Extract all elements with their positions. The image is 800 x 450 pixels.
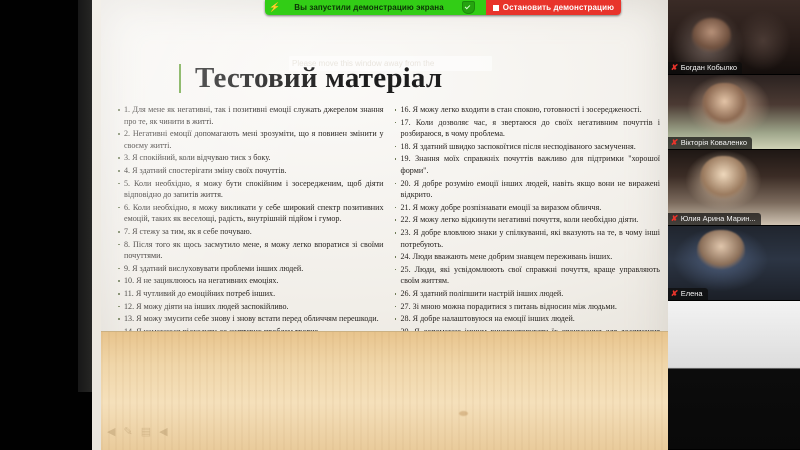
- right-column: 16. Я можу легко входити в стан спокою, …: [394, 104, 661, 362]
- participant-name: Елена: [681, 289, 703, 299]
- statement-item: 17. Коли дозволяє час, я звертаюся до св…: [394, 117, 661, 140]
- next-slide-icon[interactable]: ◀: [159, 427, 167, 438]
- microphone-muted-icon: ✘: [670, 290, 678, 298]
- statement-item: 18. Я здатний швидко заспокоїтися після …: [394, 141, 661, 153]
- page-title: Тестовий матеріал: [195, 62, 442, 95]
- participant-name-badge: ✘ Вікторія Коваленко: [668, 137, 752, 149]
- statement-item: 2. Негативні емоції допомагають мені зро…: [117, 128, 384, 151]
- microphone-muted-icon: ✘: [670, 139, 678, 147]
- participant-name-badge: ✘ Богдан Кобылко: [668, 62, 742, 74]
- share-status-label: Вы запустили демонстрацию экрана: [284, 3, 458, 12]
- participant-name: Богдан Кобылко: [681, 63, 737, 73]
- screen-share-stage: Please move this window away from the Те…: [0, 0, 800, 450]
- video-tile[interactable]: ✘ Вікторія Коваленко: [668, 75, 800, 150]
- left-column: 1. Для мене як негативні, так і позитивн…: [117, 104, 384, 362]
- statement-item: 5. Коли необхідно, я можу бути спокійним…: [117, 178, 384, 201]
- video-tile[interactable]: ✘ Елена: [668, 226, 800, 301]
- desk-wood-knot: [459, 411, 468, 416]
- desk-surface: ◀ ✎ ▤ ◀: [101, 331, 668, 450]
- statement-item: 6. Коли необхідно, я можу викликати у се…: [117, 202, 384, 225]
- statement-item: 13. Я можу змусити себе знову і знову вс…: [117, 313, 384, 325]
- participant-name-badge: ✘ Юлия Арина Марин...: [668, 213, 761, 225]
- statement-item: 26. Я здатний поліпшити настрій інших лю…: [394, 288, 661, 300]
- statement-item: 8. Після того як щось засмутило мене, я …: [117, 239, 384, 262]
- left-black-rail: [0, 0, 92, 450]
- statement-item: 27. Зі мною можна порадитися з питань ві…: [394, 301, 661, 313]
- title-accent-bar: [179, 64, 181, 93]
- statement-list-left: 1. Для мене як негативні, так і позитивн…: [117, 104, 384, 350]
- wall-edge: [78, 0, 92, 392]
- statement-item: 25. Люди, які усвідомлюють свої справжні…: [394, 264, 661, 287]
- stop-share-label: Остановить демонстрацию: [503, 3, 614, 12]
- microphone-muted-icon: ✘: [670, 64, 678, 72]
- statement-item: 16. Я можу легко входити в стан спокою, …: [394, 104, 661, 116]
- previous-slide-icon[interactable]: ◀: [107, 427, 115, 438]
- participant-name: Вікторія Коваленко: [681, 138, 747, 148]
- statement-item: 24. Люди вважають мене добрим знавцем пе…: [394, 251, 661, 263]
- participant-name-badge: ✘ Елена: [668, 288, 708, 300]
- video-tile[interactable]: ✘ Юлия Арина Марин...: [668, 150, 800, 225]
- participant-name: Юлия Арина Марин...: [681, 214, 756, 224]
- statement-item: 20. Я добре розумію емоції інших людей, …: [394, 178, 661, 201]
- statement-item: 9. Я здатний вислуховувати проблеми інши…: [117, 263, 384, 275]
- statement-item: 23. Я добре вловлюю знаки у спілкуванні,…: [394, 227, 661, 250]
- statement-item: 21. Я можу добре розпізнавати емоції за …: [394, 202, 661, 214]
- microphone-muted-icon: ✘: [670, 215, 678, 223]
- screen-share-banner: ⚡ Вы запустили демонстрацию экрана Остан…: [265, 0, 621, 15]
- statement-columns: 1. Для мене як негативні, так і позитивн…: [117, 104, 660, 362]
- projected-screen-area: Please move this window away from the Те…: [92, 0, 668, 450]
- statement-item: 19. Знання моїх справжніх почуттів важли…: [394, 153, 661, 176]
- statement-item: 4. Я здатний спостерігати зміну своїх по…: [117, 165, 384, 177]
- video-feed: [668, 301, 800, 449]
- share-status-pill: ⚡ Вы запустили демонстрацию экрана: [265, 0, 486, 15]
- shield-icon[interactable]: [462, 1, 475, 14]
- statement-item: 22. Я можу легко відкинути негативні поч…: [394, 214, 661, 226]
- slide-menu-icon[interactable]: ▤: [141, 427, 151, 438]
- video-tile[interactable]: ✘ Богдан Кобылко: [668, 0, 800, 75]
- lightning-icon: ⚡: [268, 3, 280, 12]
- presentation-toolbar[interactable]: ◀ ✎ ▤ ◀: [107, 427, 168, 438]
- slide-title-block: Тестовий матеріал: [179, 62, 442, 95]
- participant-video-strip[interactable]: ✘ Богдан Кобылко ✘ Вікторія Коваленко ✘ …: [668, 0, 800, 450]
- statement-item: 12. Я можу діяти на інших людей заспокій…: [117, 301, 384, 313]
- pen-icon[interactable]: ✎: [123, 427, 132, 438]
- video-tile[interactable]: [668, 301, 800, 450]
- statement-item: 3. Я спокійний, коли відчуваю тиск з бок…: [117, 152, 384, 164]
- stop-share-button[interactable]: Остановить демонстрацию: [486, 0, 621, 15]
- statement-item: 1. Для мене як негативні, так і позитивн…: [117, 104, 384, 127]
- statement-item: 28. Я добре налаштовуюся на емоції інших…: [394, 313, 661, 325]
- statement-list-right: 16. Я можу легко входити в стан спокою, …: [394, 104, 661, 361]
- statement-item: 11. Я чутливий до емоційних потреб інших…: [117, 288, 384, 300]
- stop-square-icon: [493, 5, 499, 11]
- statement-item: 10. Я не зациклююсь на негативних емоція…: [117, 275, 384, 287]
- statement-item: 7. Я стежу за тим, як я себе почуваю.: [117, 226, 384, 238]
